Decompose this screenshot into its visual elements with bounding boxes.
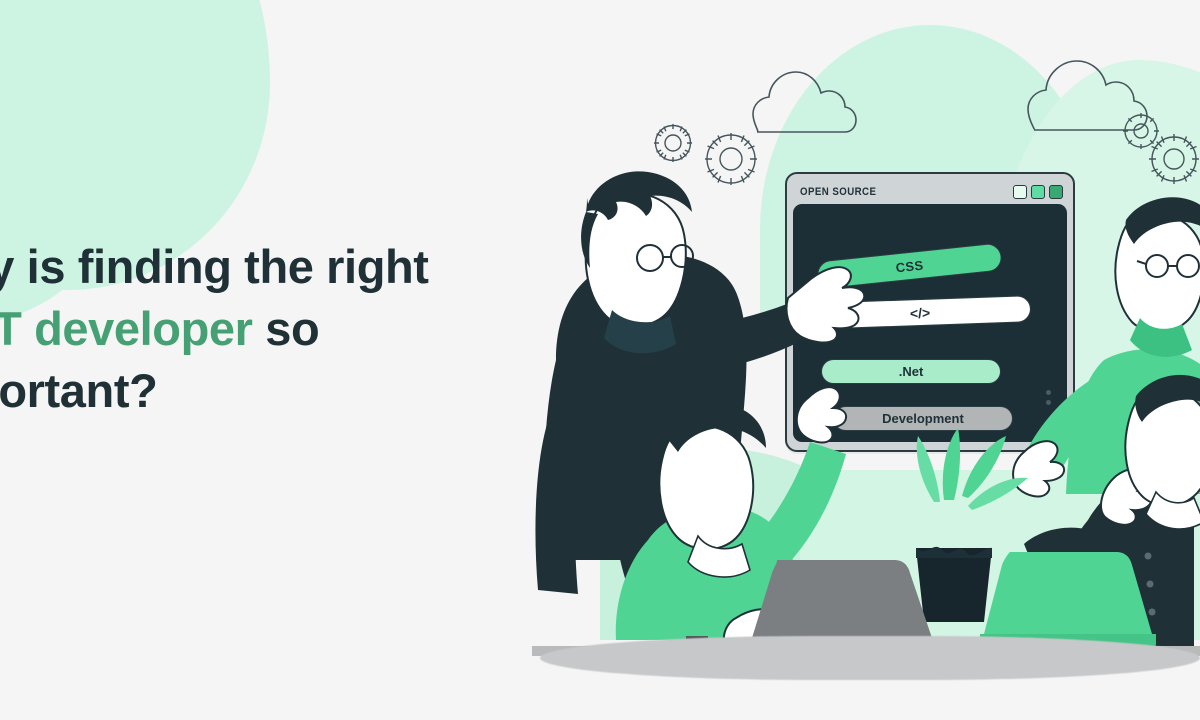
team-illustration	[0, 0, 1200, 720]
desk-shadow	[540, 636, 1200, 680]
laptop-green	[980, 552, 1156, 649]
hero-banner: Why is finding the right .NET developer …	[0, 0, 1200, 720]
